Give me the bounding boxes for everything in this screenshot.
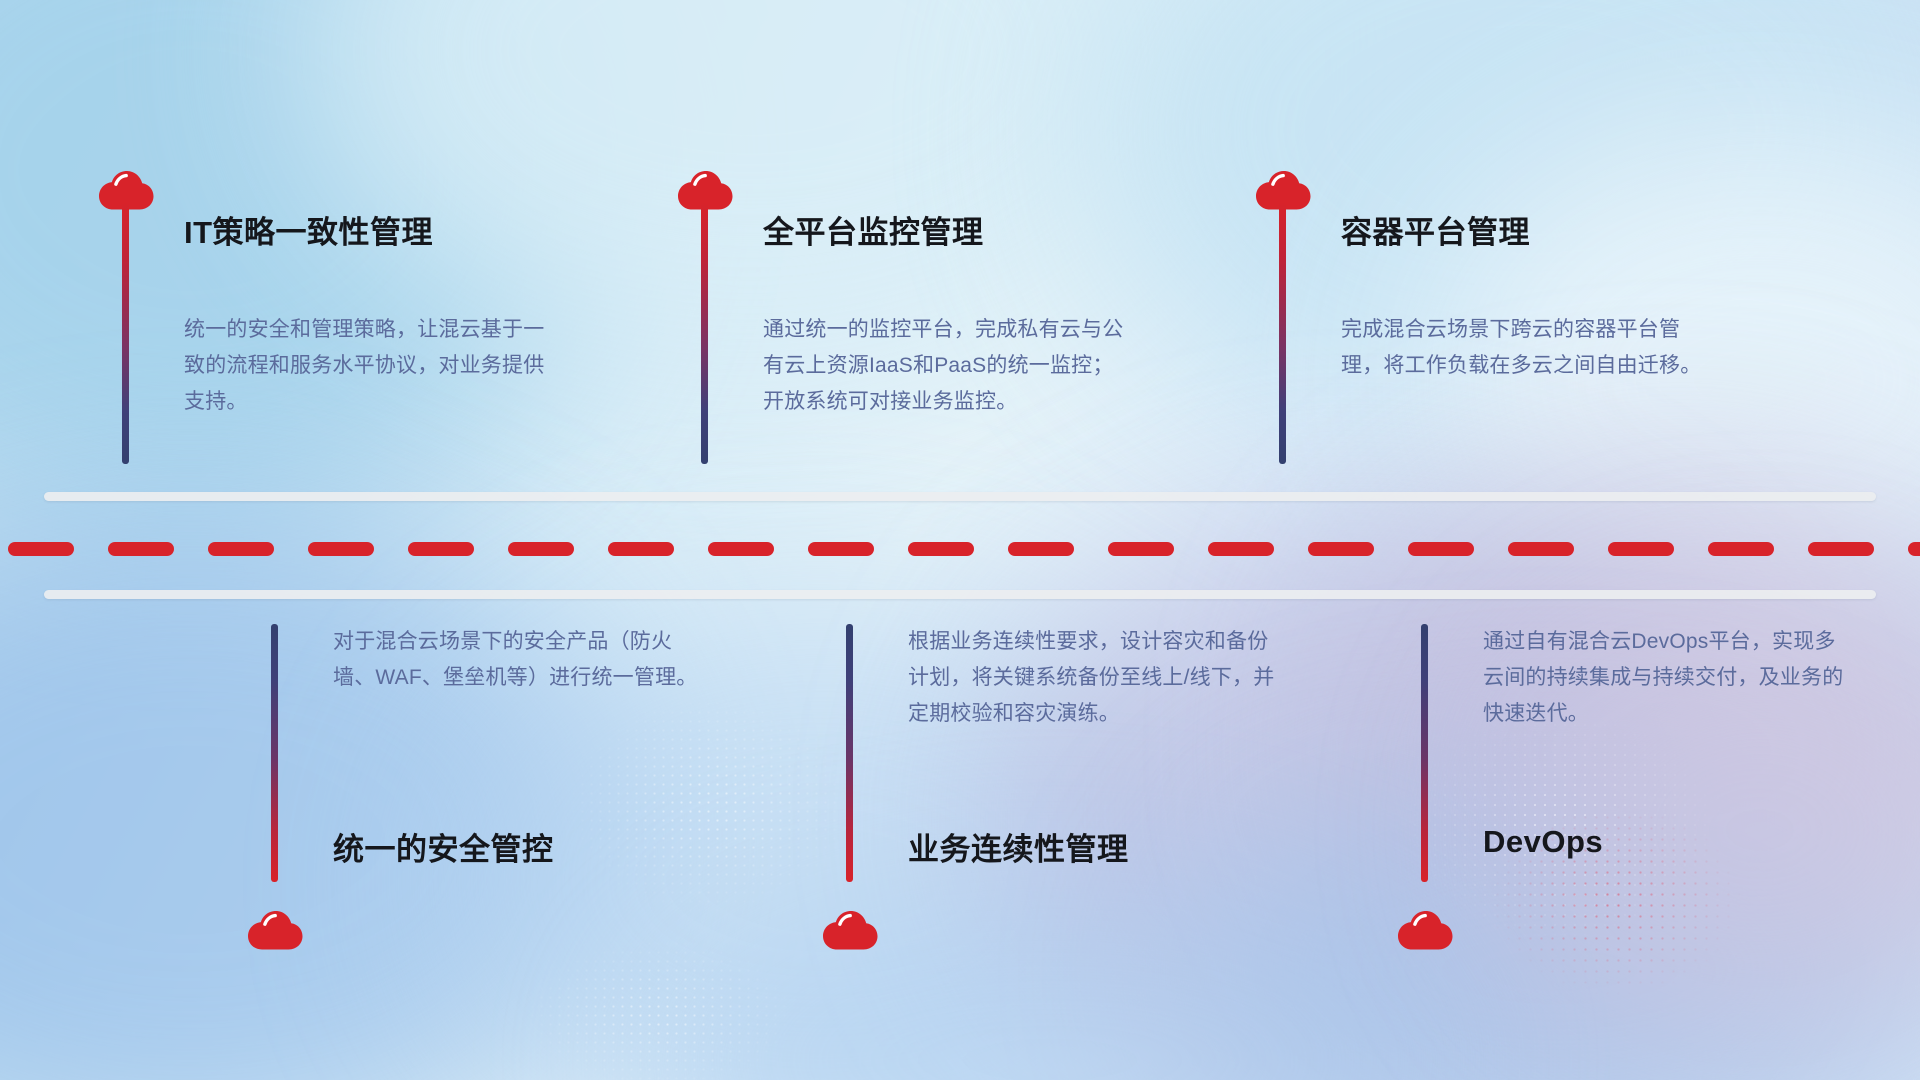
dash-segment	[1708, 542, 1774, 556]
cloud-icon	[1395, 900, 1457, 950]
infographic-canvas: IT策略一致性管理 统一的安全和管理策略，让混云基于一致的流程和服务水平协议，对…	[0, 0, 1920, 1080]
card-title: DevOps	[1483, 824, 1603, 860]
card-body: 完成混合云场景下跨云的容器平台管理，将工作负载在多云之间自由迁移。	[1341, 312, 1711, 384]
connector-stem	[271, 624, 278, 882]
dash-segment	[908, 542, 974, 556]
speckle-texture	[1470, 790, 1760, 1010]
connector-stem	[1279, 202, 1286, 464]
card-body: 对于混合云场景下的安全产品（防火墙、WAF、堡垒机等）进行统一管理。	[333, 624, 703, 696]
connector-stem	[122, 202, 129, 464]
connector-stem	[846, 624, 853, 882]
divider-rule-bottom	[44, 590, 1876, 599]
dash-segment	[1908, 542, 1920, 556]
dash-segment	[1108, 542, 1174, 556]
card-title: IT策略一致性管理	[184, 207, 433, 252]
dash-segment	[708, 542, 774, 556]
card-title: 业务连续性管理	[908, 824, 1129, 869]
background-bloom	[980, 520, 1740, 1080]
connector-stem	[701, 202, 708, 464]
dashed-divider	[0, 542, 1920, 556]
card-title: 全平台监控管理	[763, 207, 984, 252]
dash-segment	[1008, 542, 1074, 556]
background-bloom	[0, 0, 600, 520]
speckle-texture	[560, 690, 860, 920]
dash-segment	[608, 542, 674, 556]
dash-segment	[8, 542, 74, 556]
dash-segment	[1808, 542, 1874, 556]
card-body: 统一的安全和管理策略，让混云基于一致的流程和服务水平协议，对业务提供支持。	[184, 312, 554, 420]
connector-stem	[1421, 624, 1428, 882]
dash-segment	[1608, 542, 1674, 556]
card-body: 根据业务连续性要求，设计容灾和备份计划，将关键系统备份至线上/线下，并定期校验和…	[908, 624, 1278, 732]
dash-segment	[1408, 542, 1474, 556]
dash-segment	[1508, 542, 1574, 556]
background-bloom	[1180, 760, 1920, 1080]
card-title: 统一的安全管控	[333, 824, 554, 869]
card-title: 容器平台管理	[1341, 207, 1530, 252]
cloud-icon	[245, 900, 307, 950]
background-bloom	[300, 0, 1200, 360]
dash-segment	[108, 542, 174, 556]
dash-segment	[808, 542, 874, 556]
speckle-texture	[510, 930, 810, 1080]
background-bloom	[0, 520, 640, 1080]
card-body: 通过自有混合云DevOps平台，实现多云间的持续集成与持续交付，及业务的快速迭代…	[1483, 624, 1853, 732]
dash-segment	[1308, 542, 1374, 556]
cloud-icon	[820, 900, 882, 950]
dash-segment	[408, 542, 474, 556]
dash-segment	[1208, 542, 1274, 556]
dash-segment	[508, 542, 574, 556]
card-body: 通过统一的监控平台，完成私有云与公有云上资源IaaS和PaaS的统一监控；开放系…	[763, 312, 1133, 420]
background-bloom	[640, 880, 1460, 1080]
divider-rule-top	[44, 492, 1876, 501]
dash-segment	[308, 542, 374, 556]
dash-segment	[208, 542, 274, 556]
